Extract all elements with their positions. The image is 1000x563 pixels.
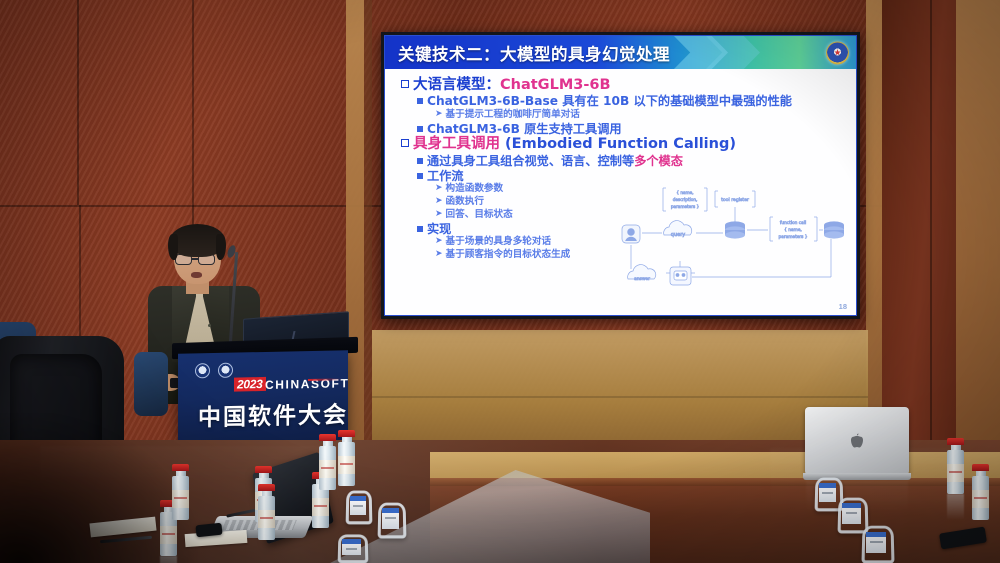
podium-year-label: 2023 <box>234 377 266 392</box>
filled-square-icon <box>417 98 423 104</box>
name-card <box>819 483 836 502</box>
svg-text:{ name,: { name, <box>784 227 802 233</box>
bottle-body <box>172 476 189 520</box>
bottle-label <box>172 490 189 508</box>
bottle-label <box>972 490 989 508</box>
bottle-cap <box>947 438 964 445</box>
name-card-line <box>346 548 358 550</box>
filled-square-icon <box>417 226 423 232</box>
wall-seam-vertical-4 <box>930 0 932 460</box>
water-bottle-8-reflection <box>947 494 964 520</box>
svg-text:function call: function call <box>780 220 806 226</box>
slide-surface: 关键技术二：大模型的具身幻觉处理 大语言模型：ChatGLM3-6B ChatG… <box>384 35 857 316</box>
bullet-l2-base-perf: ChatGLM3-6B-Base 具有在 10B 以下的基础模型中最强的性能 <box>417 95 846 107</box>
database-icon-1 <box>725 207 745 239</box>
presenter-mouth <box>191 272 202 278</box>
svg-text:parameters }: parameters } <box>778 234 807 240</box>
wall-band-seam <box>372 396 868 398</box>
arrow-bullet-icon: ➤ <box>435 210 443 219</box>
water-bottle-8 <box>947 438 964 494</box>
cloud-icon-answer: answer <box>628 265 656 282</box>
water-bottle-6 <box>338 430 355 486</box>
bullet-text: 基于顾客指令的目标状态生成 <box>446 249 571 260</box>
bottle-cap <box>972 464 989 471</box>
name-card <box>842 503 861 523</box>
bullet-text: (Embodied Function Calling) <box>500 136 736 152</box>
arrow-bullet-icon: ➤ <box>435 237 443 246</box>
bullet-text-accent: 具身工具调用 <box>413 136 500 152</box>
name-card-line <box>822 492 833 494</box>
svg-text:parameters }: parameters } <box>671 204 700 209</box>
name-card-line <box>846 512 858 514</box>
bottle-label <box>312 498 329 516</box>
bullet-text: 实现 <box>427 222 451 236</box>
macbook-closed-silver <box>805 407 909 475</box>
bullet-text: 基于场景的具身多轮对话 <box>446 236 552 247</box>
bullet-l2-multimodal: 通过具身工具组合视觉、语言、控制等多个模态 <box>417 155 846 167</box>
arrow-bullet-icon: ➤ <box>435 184 443 193</box>
bullet-text: 大语言模型： <box>413 77 500 93</box>
function-calling-flow-diagram: query answer <box>606 183 852 299</box>
bottle-label <box>160 526 177 544</box>
robot-icon <box>666 261 695 285</box>
presenter-hair-side-left <box>168 234 178 260</box>
cloud-icon-query: query <box>664 221 692 238</box>
bullet-text: 基于提示工程的咖啡厅简单对话 <box>446 109 580 120</box>
filled-square-icon <box>417 158 423 164</box>
code-block-tool-schema: { name, description, parameters } <box>663 188 707 211</box>
bullet-text: 回答、目标状态 <box>446 209 513 220</box>
bottle-body <box>338 442 355 486</box>
name-card <box>382 508 399 528</box>
slide-title: 关键技术二：大模型的具身幻觉处理 <box>398 41 670 65</box>
water-bottle-9 <box>972 464 989 520</box>
bullet-text: 通过具身工具组合视觉、语言、控制等 <box>427 154 634 168</box>
water-bottle-2 <box>172 464 189 520</box>
wall-band-behind-table <box>372 330 868 452</box>
bullet-text-accent: 多个模态 <box>634 154 683 168</box>
presenter-hair-side-right <box>216 234 226 260</box>
hollow-square-icon <box>401 139 409 147</box>
bottle-label <box>258 510 275 528</box>
projection-screen: 关键技术二：大模型的具身幻觉处理 大语言模型：ChatGLM3-6B ChatG… <box>381 32 860 319</box>
arrow-bullet-icon: ➤ <box>435 110 443 119</box>
bullet-text: ChatGLM3-6B 原生支持工具调用 <box>427 122 622 136</box>
wall-pilaster-left-shadow <box>364 0 372 452</box>
bullet-text-accent: ChatGLM3-6B <box>500 77 611 93</box>
name-card-holder-3 <box>338 534 368 563</box>
conference-room-screenshot: 关键技术二：大模型的具身幻觉处理 大语言模型：ChatGLM3-6B ChatG… <box>0 0 1000 563</box>
wall-seam-vertical-1 <box>77 0 79 205</box>
name-card <box>866 532 886 553</box>
bullet-text: ChatGLM3-6B-Base 具有在 10B 以下的基础模型中最强的性能 <box>427 94 792 108</box>
bullet-l3-prompt-cafe: ➤基于提示工程的咖啡厅简单对话 <box>435 110 846 120</box>
database-icon-2 <box>824 221 844 238</box>
glasses-bridge <box>192 258 198 260</box>
name-card-line <box>870 541 883 543</box>
bottle-body <box>947 450 964 494</box>
chair-blue-backrest-right <box>134 352 168 416</box>
name-card <box>350 496 366 515</box>
bottle-cap <box>255 466 272 473</box>
name-card-holder-6 <box>862 525 894 563</box>
arrow-bullet-icon: ➤ <box>435 197 443 206</box>
bullet-text: 工作流 <box>427 169 464 183</box>
code-block-function-call: function call { name, parameters } <box>770 217 817 241</box>
name-card-holder-1 <box>346 490 372 524</box>
bullet-l1-llm: 大语言模型：ChatGLM3-6B <box>401 78 846 93</box>
jacket-button-1 <box>208 324 211 327</box>
bullet-text: 函数执行 <box>446 196 484 207</box>
name-card-holder-2 <box>378 502 406 538</box>
podium-chinese-label: 中国软件大会 <box>198 395 348 432</box>
slide-body: 大语言模型：ChatGLM3-6B ChatGLM3-6B-Base 具有在 1… <box>385 69 856 315</box>
bottle-body <box>972 476 989 520</box>
slide-title-bar: 关键技术二：大模型的具身幻觉处理 <box>385 36 856 69</box>
bottle-body <box>319 446 336 490</box>
name-card-line <box>353 505 363 507</box>
wall-panel-corner-right <box>956 0 1000 460</box>
bottle-label <box>319 460 336 478</box>
water-bottle-7 <box>258 484 275 540</box>
bullet-l2-native-tools: ChatGLM3-6B 原生支持工具调用 <box>417 123 846 135</box>
bottle-cap <box>338 430 355 437</box>
wall-seam-vertical-3 <box>192 0 194 230</box>
bullet-l1-embodied-fc: 具身工具调用 (Embodied Function Calling) <box>401 137 846 152</box>
hollow-square-icon <box>401 80 409 88</box>
svg-text:tool register: tool register <box>721 197 749 203</box>
name-card-line <box>385 517 396 519</box>
university-crest-icon <box>826 41 849 64</box>
water-bottle-1-reflection <box>160 556 177 563</box>
svg-text:description,: description, <box>673 197 698 202</box>
svg-text:query: query <box>671 232 685 238</box>
bottle-cap <box>258 484 275 491</box>
svg-text:{ name,: { name, <box>676 190 693 195</box>
bottle-label <box>947 464 964 482</box>
filled-square-icon <box>417 173 423 179</box>
org-emblem-right-icon <box>218 363 233 378</box>
org-emblem-left-icon <box>195 363 210 378</box>
wall-pilaster-right <box>866 0 882 460</box>
code-block-tool-register: tool register <box>715 191 755 207</box>
apple-logo-icon <box>851 434 864 449</box>
arrow-bullet-icon: ➤ <box>435 250 443 259</box>
bullet-l2-workflow: 工作流 <box>417 170 846 182</box>
svg-text:answer: answer <box>634 276 650 282</box>
bottle-label <box>338 456 355 474</box>
bottle-body <box>258 496 275 540</box>
podium-banner: 2023 CHINASOFT 中国软件大会 <box>178 350 348 444</box>
bullet-text: 构造函数参数 <box>446 183 504 194</box>
bottle-cap <box>172 464 189 471</box>
slide-page-number: 18 <box>839 302 847 311</box>
bottle-cap <box>319 434 336 441</box>
filled-square-icon <box>417 126 423 132</box>
name-card <box>342 539 361 555</box>
water-bottle-5 <box>319 434 336 490</box>
user-avatar-icon <box>622 225 640 243</box>
bottle-body <box>312 484 329 528</box>
